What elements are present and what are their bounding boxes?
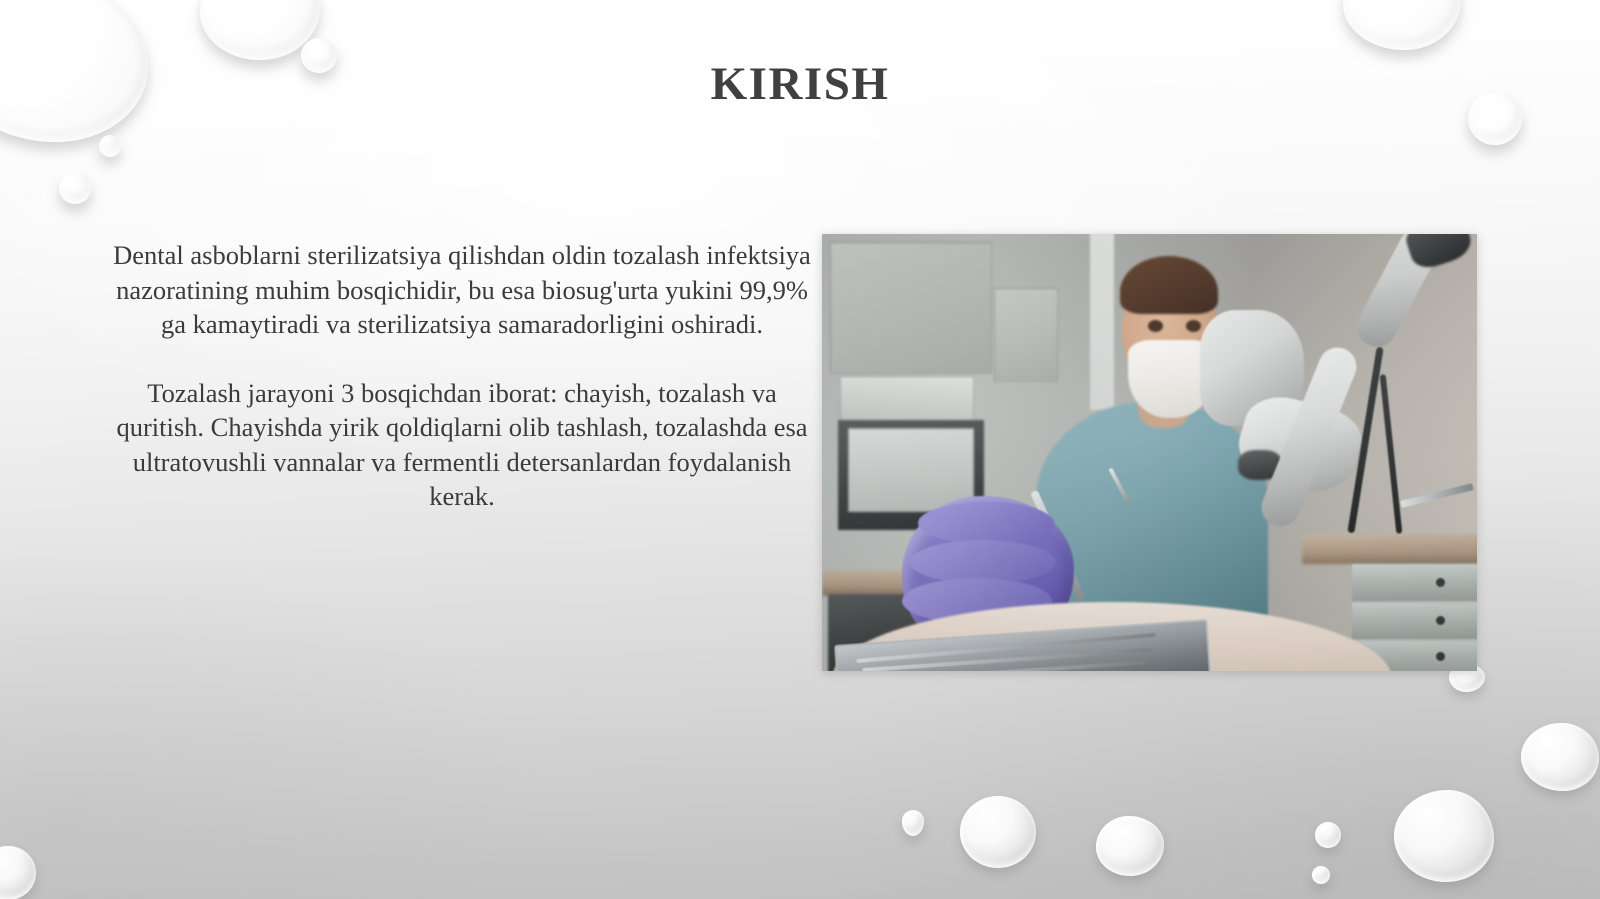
photo-cabinet <box>830 242 992 374</box>
paragraph-spacer <box>112 342 812 376</box>
water-droplet <box>1315 822 1341 848</box>
presentation-slide: KIRISH Dental asboblarni sterilizatsiya … <box>0 0 1600 899</box>
photo-glove-finger <box>918 502 1054 544</box>
photo-cabinet <box>840 376 974 426</box>
body-paragraph-2: Tozalash jarayoni 3 bosqichdan iborat: c… <box>112 376 812 514</box>
water-droplet <box>99 135 121 157</box>
photo-drawer-knob <box>1436 652 1445 661</box>
water-droplet <box>1394 790 1494 882</box>
water-droplet <box>960 796 1036 868</box>
slide-photo-frame <box>822 234 1477 671</box>
photo-drawer-knob <box>1436 616 1445 625</box>
water-droplet <box>1521 723 1599 791</box>
slide-title: KIRISH <box>0 57 1600 111</box>
body-paragraph-1: Dental asboblarni sterilizatsiya qilishd… <box>112 238 812 342</box>
water-droplet <box>59 172 91 204</box>
water-droplet <box>1343 0 1461 50</box>
photo-drawer <box>1352 564 1477 601</box>
slide-body-text: Dental asboblarni sterilizatsiya qilishd… <box>112 238 812 514</box>
photo-counter <box>1302 534 1477 564</box>
photo-cabinet <box>994 288 1058 382</box>
photo-drawer-knob <box>1436 578 1445 587</box>
dental-sterilization-photo <box>822 234 1477 671</box>
photo-wall-panel <box>1090 234 1114 410</box>
photo-person-eye <box>1148 320 1163 332</box>
water-droplet <box>0 846 36 899</box>
water-droplet <box>200 0 320 60</box>
water-droplet <box>902 810 924 836</box>
water-droplet <box>1096 816 1164 876</box>
photo-drawer <box>1352 602 1477 639</box>
photo-person-eye <box>1186 320 1201 332</box>
water-droplet <box>1312 866 1330 884</box>
